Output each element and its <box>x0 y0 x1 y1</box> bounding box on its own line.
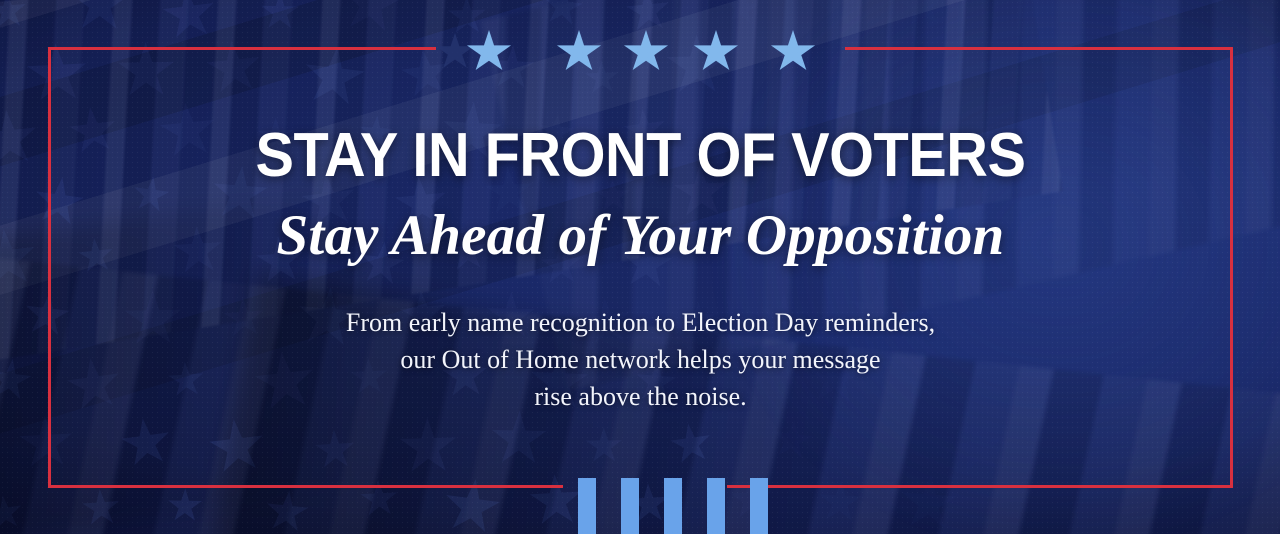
vertical-bar-decoration <box>707 478 725 534</box>
banner-content: STAY IN FRONT OF VOTERS Stay Ahead of Yo… <box>48 47 1233 488</box>
political-campaign-banner: STAY IN FRONT OF VOTERS Stay Ahead of Yo… <box>0 0 1280 534</box>
vertical-bar-decoration <box>621 478 639 534</box>
body-line: our Out of Home network helps your messa… <box>48 342 1233 379</box>
vertical-bar-decoration <box>578 478 596 534</box>
body-line: From early name recognition to Election … <box>48 305 1233 342</box>
vertical-bar-decoration <box>750 478 768 534</box>
body-line: rise above the noise. <box>48 379 1233 416</box>
banner-subheadline: Stay Ahead of Your Opposition <box>48 207 1233 264</box>
vertical-bar-decoration <box>664 478 682 534</box>
banner-body-copy: From early name recognition to Election … <box>48 305 1233 416</box>
page-title: STAY IN FRONT OF VOTERS <box>89 125 1191 187</box>
bottom-bar-decoration <box>0 474 1280 534</box>
